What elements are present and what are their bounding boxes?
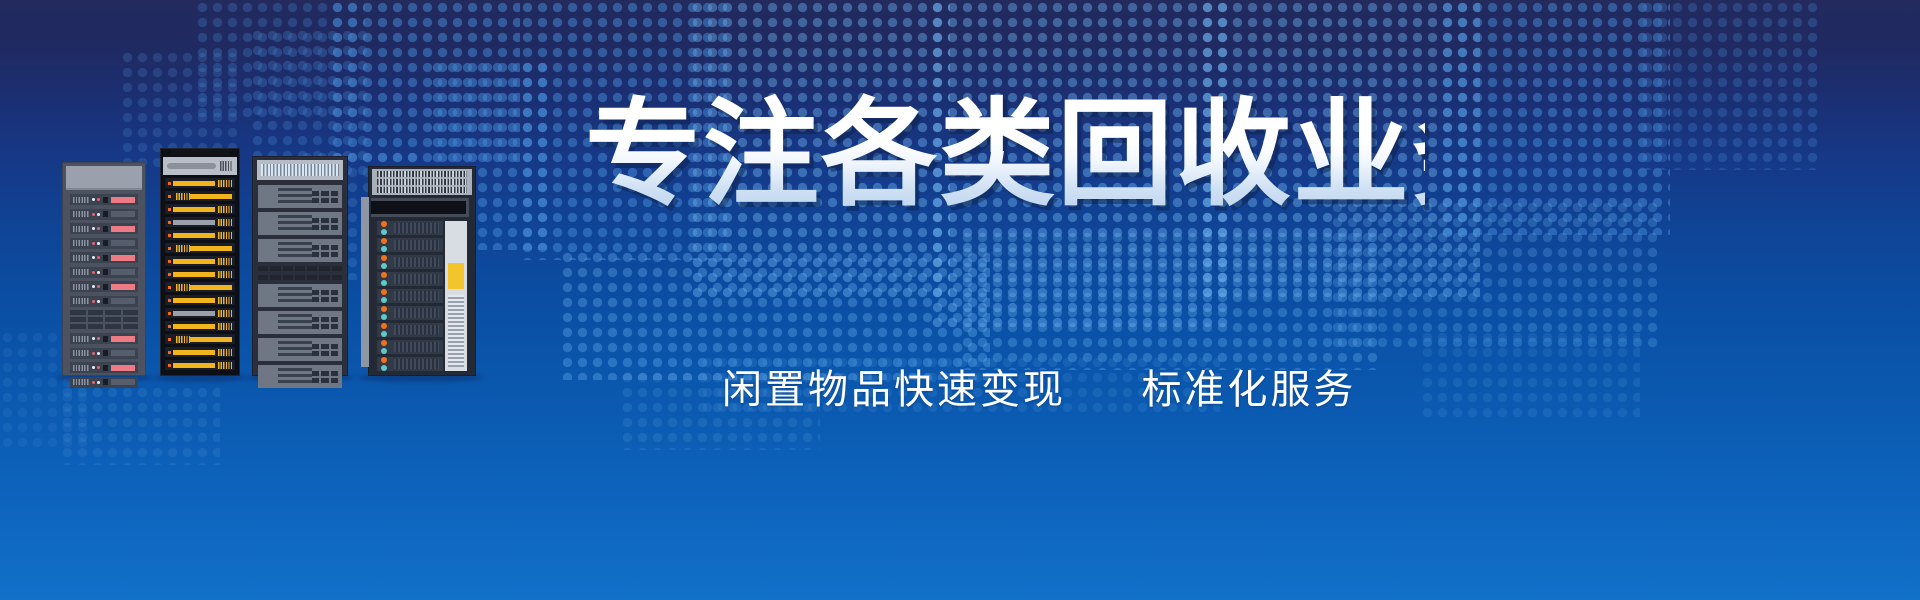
promo-banner: 专注各类回收业务 闲置物品快速变现 标准化服务 xyxy=(0,0,1920,600)
subtitle-phrase-2: 标准化服务 xyxy=(1141,367,1356,413)
server-rack-illustration xyxy=(0,0,520,600)
server-rack-4 xyxy=(368,166,476,376)
banner-subtitle: 闲置物品快速变现 标准化服务 xyxy=(722,370,1356,410)
rack4-top-panel xyxy=(372,169,472,195)
server-rack-3 xyxy=(252,156,348,376)
rack4-left-post xyxy=(361,197,369,367)
subtitle-phrase-1: 闲置物品快速变现 xyxy=(722,367,1066,413)
rack4-side-panel xyxy=(445,221,467,371)
banner-headline: 专注各类回收业务 xyxy=(585,92,1425,217)
rack1-top-panel xyxy=(66,166,142,190)
rack2-top-panel xyxy=(163,157,237,175)
server-rack-1 xyxy=(62,162,146,376)
rack3-top-panel xyxy=(257,160,343,180)
server-rack-2 xyxy=(160,148,240,376)
